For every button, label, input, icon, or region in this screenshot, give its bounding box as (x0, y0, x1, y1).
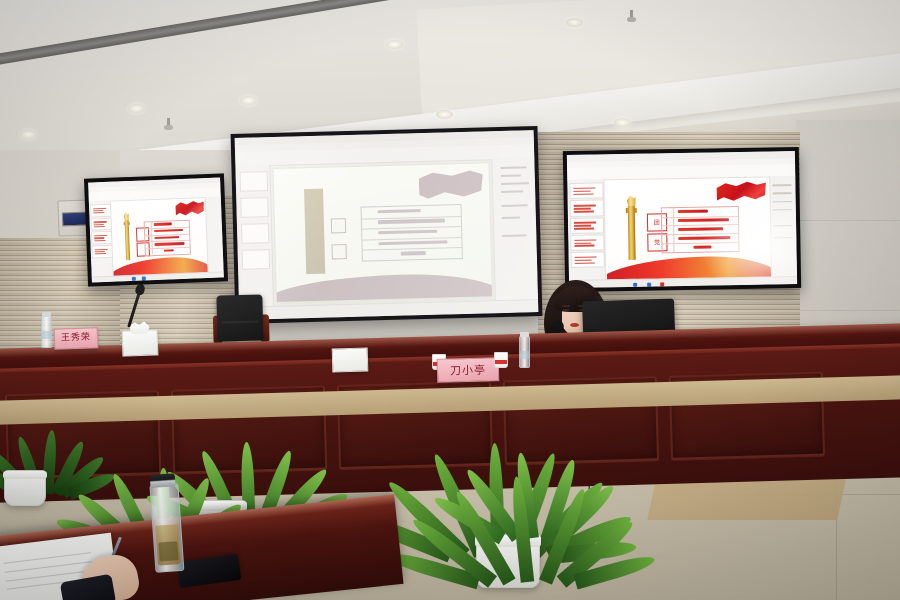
presenter-lips (570, 323, 579, 327)
potted-palm (440, 422, 620, 582)
conference-room-photo: 团 党 (0, 0, 900, 600)
tissue-box[interactable] (122, 329, 159, 356)
slide-canvas (111, 198, 209, 277)
slide-table (361, 204, 463, 262)
downlight-icon (566, 18, 583, 27)
name-placard: 王秀荣 (54, 327, 99, 350)
ppt-slide-thumbnails (567, 180, 606, 282)
right-display[interactable]: 团 党 (563, 147, 801, 292)
slide-table (661, 206, 739, 253)
sprinkler-icon (628, 10, 635, 22)
right-display-screen: 团 党 (567, 151, 797, 288)
monument-graphic (623, 194, 641, 260)
downlight-icon (614, 118, 631, 127)
flag-graphic (175, 200, 204, 221)
downlight-icon (240, 96, 257, 105)
downlight-icon (128, 104, 145, 113)
ppt-slide-thumbnails (235, 165, 274, 308)
name-placard: 刀小亭 (437, 357, 500, 383)
paper-cup[interactable] (494, 352, 508, 368)
downlight-icon (436, 110, 453, 119)
projection-screen-surface (235, 130, 539, 320)
flag-graphic (717, 180, 767, 207)
water-bottle[interactable] (41, 316, 52, 348)
downlight-icon (20, 130, 37, 139)
sprinkler-icon (165, 118, 172, 130)
ppt-side-pane (491, 158, 538, 301)
downlight-icon (386, 40, 403, 49)
projection-screen[interactable] (231, 126, 543, 324)
left-display[interactable] (84, 173, 228, 286)
ppt-side-pane (205, 196, 223, 273)
monument-graphic (304, 189, 326, 275)
monument-graphic (121, 211, 132, 261)
slide-canvas: 团 党 (605, 177, 771, 280)
ppt-slide-canvas (272, 162, 492, 303)
seal-stamp (331, 218, 346, 233)
slide-table (144, 219, 191, 256)
glass-tea-thermos[interactable] (149, 473, 183, 571)
flag-graphic (419, 169, 484, 205)
tissue-box[interactable] (332, 348, 369, 373)
seal-stamp (331, 244, 346, 259)
executive-chair[interactable] (212, 294, 271, 346)
wave-graphic (272, 272, 492, 303)
plant-pot (4, 470, 46, 506)
ppt-side-pane (769, 176, 797, 278)
left-display-screen (88, 178, 224, 283)
water-bottle[interactable] (519, 336, 530, 368)
